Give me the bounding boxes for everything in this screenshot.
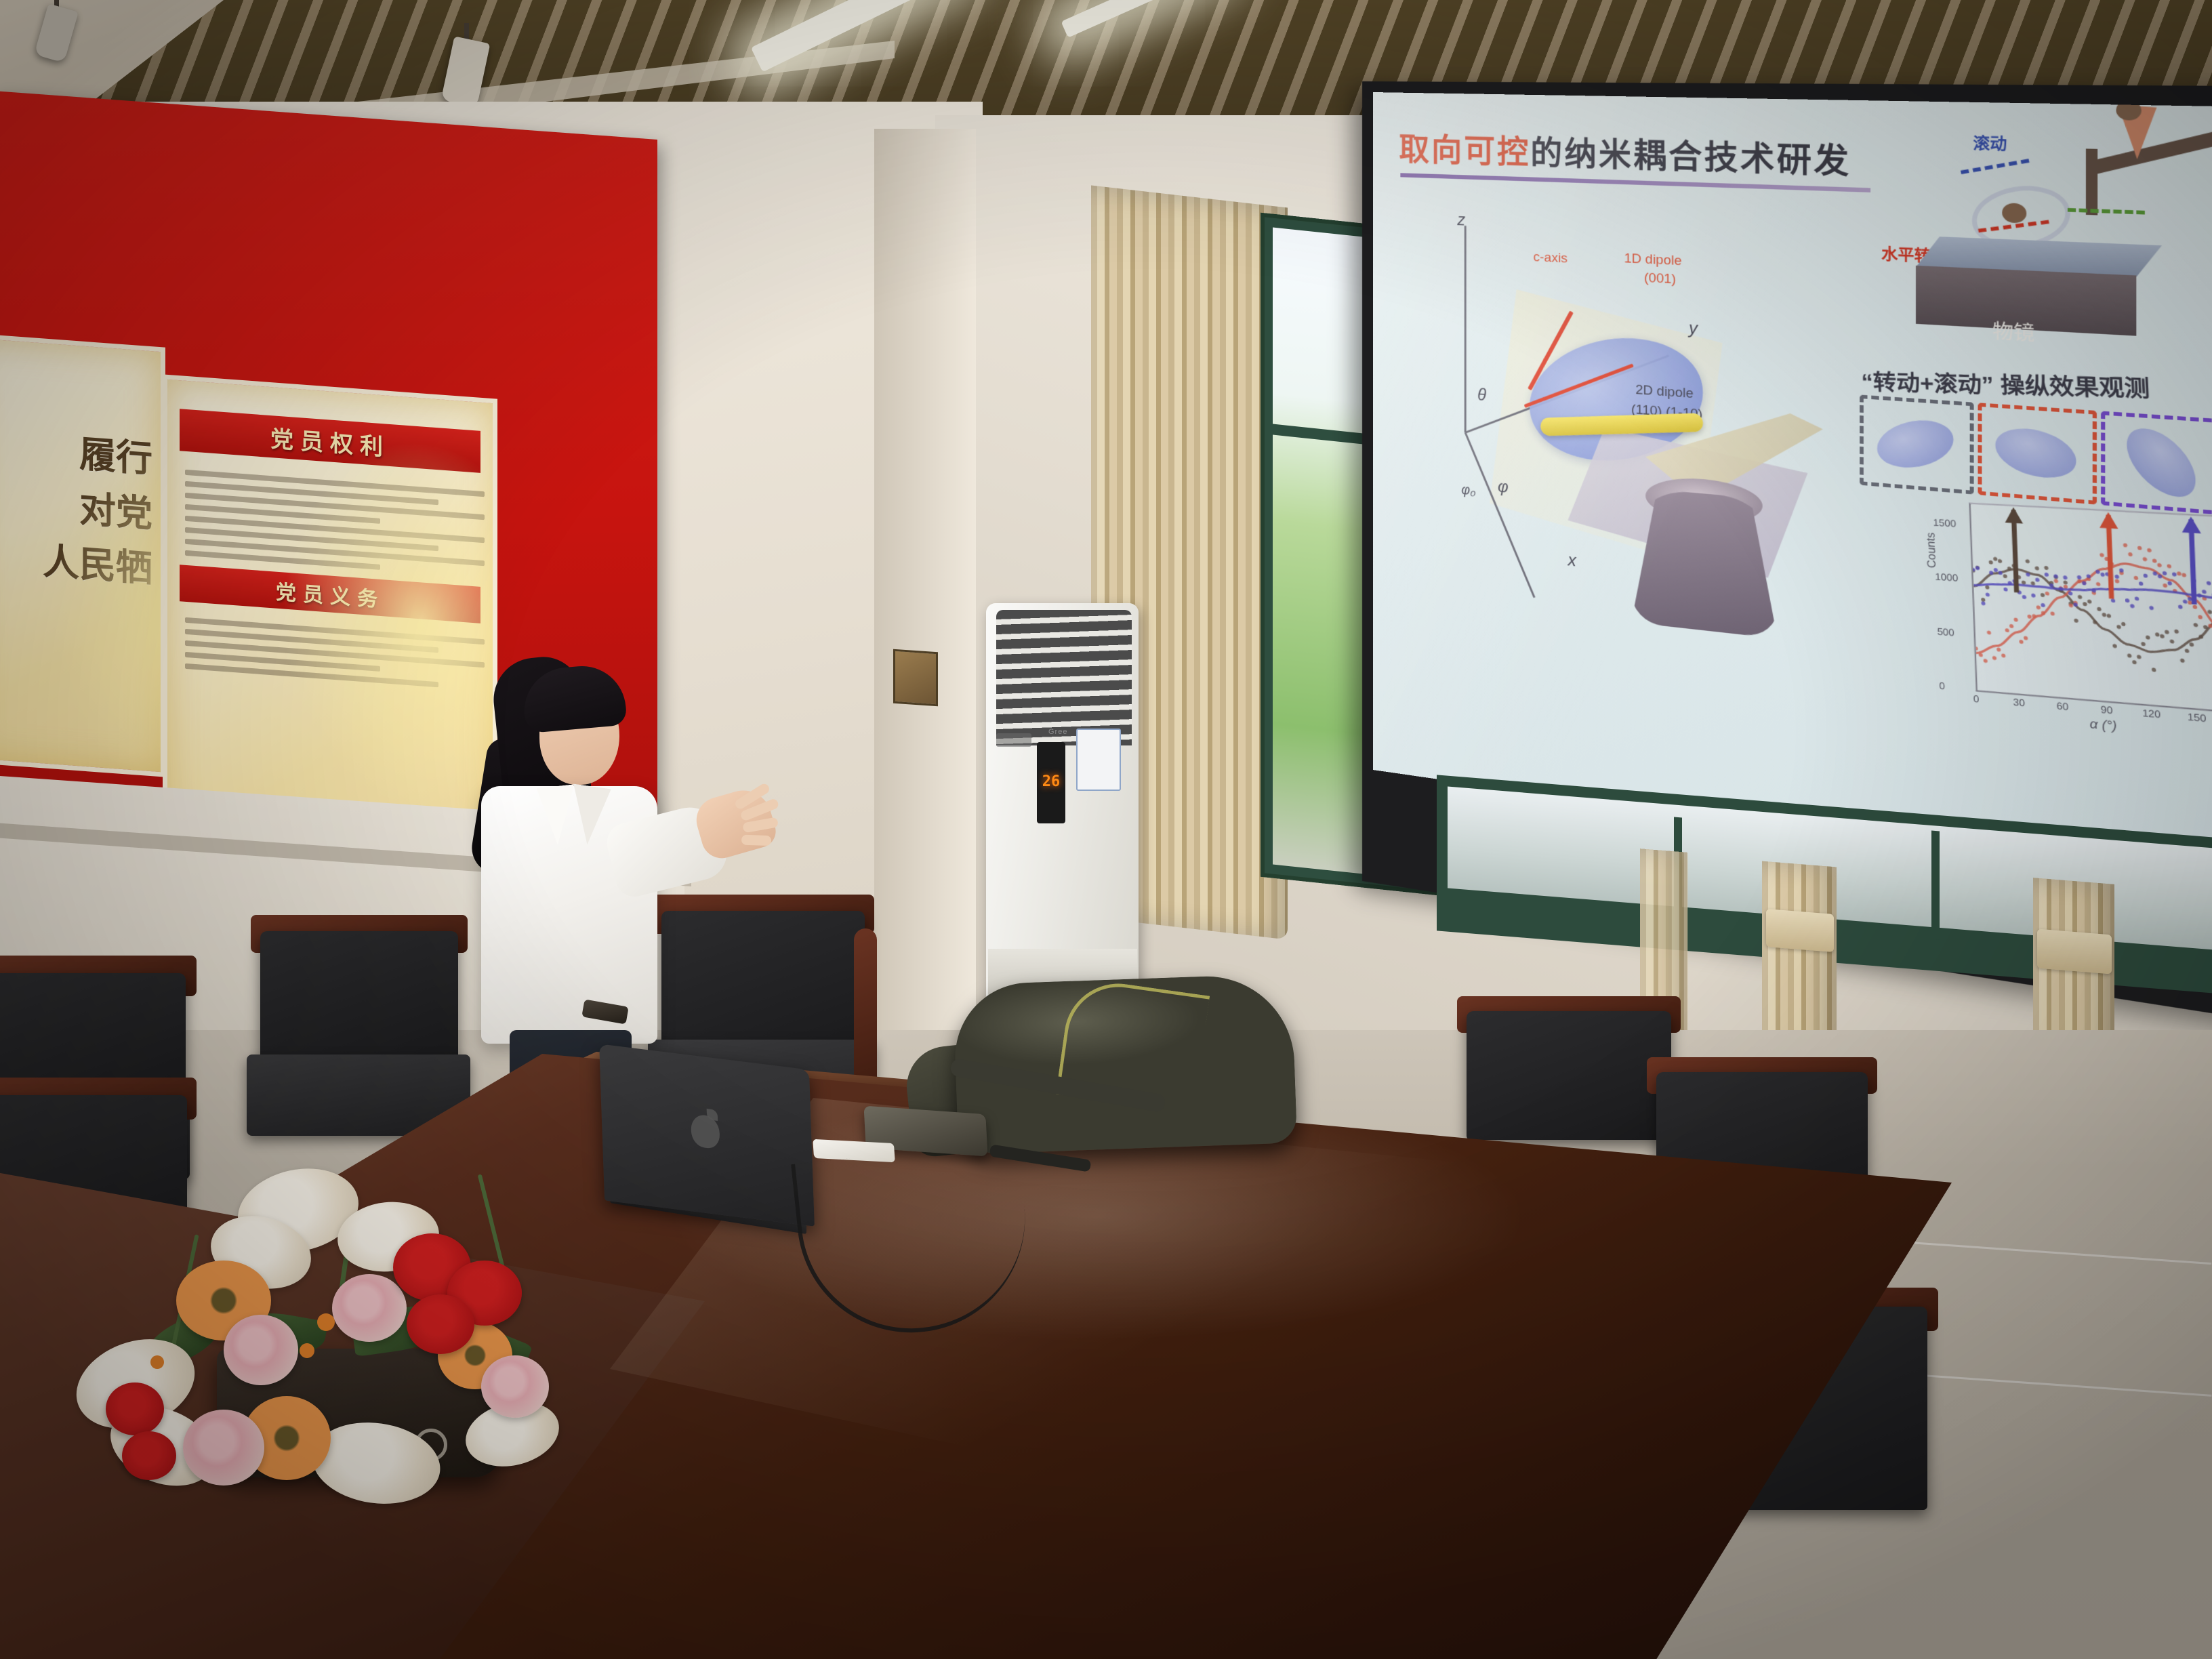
- chart-xtick: 0: [1973, 693, 1979, 704]
- cantilever-arm: [2087, 127, 2212, 176]
- thumbnail-box-purple: [2101, 411, 2212, 515]
- thumbnail-ellipse: [2114, 417, 2209, 508]
- wall-corner: [874, 129, 976, 1091]
- slide-title-rest: 的纳米耦合技术研发: [1530, 134, 1851, 180]
- dipole-1d-label: 1D dipole: [1624, 251, 1682, 270]
- ac-vent-grille: [996, 610, 1132, 745]
- chart-ytick: 0: [1939, 680, 1945, 691]
- chair-backrest: [1467, 1011, 1671, 1140]
- chart-annotation-arrow-dark: [2005, 507, 2026, 593]
- poster-left-panel: 履行 对党 人民牺: [0, 333, 165, 777]
- objective-block: 物镜: [1916, 236, 2162, 339]
- thumbnail-box-dark: [1860, 394, 1973, 494]
- thumbnail-ellipse: [1990, 420, 2081, 486]
- chart-xtick: 150: [2188, 711, 2207, 724]
- poster-left-fragment-1: 履行: [0, 419, 152, 488]
- red-flower: [122, 1431, 176, 1480]
- curtain-tieback-2[interactable]: [2037, 929, 2112, 975]
- berry: [300, 1343, 314, 1358]
- window-divider-2: [1931, 831, 1940, 940]
- curtain-tieback-1[interactable]: [1766, 909, 1834, 952]
- particle-dot: [2002, 203, 2026, 223]
- chart-ytick: 1500: [1933, 516, 1957, 529]
- flower-centerpiece[interactable]: [61, 1152, 861, 1532]
- axis-x-label: x: [1568, 551, 1576, 571]
- objective-block-label: 物镜: [1992, 316, 2034, 346]
- chart-xtick: 60: [2056, 700, 2068, 713]
- chart-series-svg: [1971, 504, 2212, 712]
- figure-nanorod-manipulation: [1540, 319, 1853, 558]
- ac-logo-icon: [996, 733, 1031, 747]
- chart-plot-area: [1969, 503, 2212, 714]
- rose-flower: [224, 1315, 298, 1385]
- berry: [317, 1313, 335, 1331]
- angle-theta-label: θ: [1477, 386, 1486, 406]
- conference-room-photo: 履行 对党 人民牺 党员权利 党员义务: [0, 0, 2212, 1659]
- thumbnail-box-red: [1978, 403, 2096, 504]
- red-flower: [106, 1382, 164, 1435]
- ac-display-panel: 26: [1037, 742, 1065, 823]
- finger: [741, 835, 771, 846]
- ac-brand-label: Gree: [1048, 728, 1067, 736]
- rose-flower: [183, 1410, 264, 1486]
- chart-ylabel: Counts: [1924, 532, 1939, 569]
- wall-outlet-plate[interactable]: [893, 649, 938, 707]
- chart-xlabel: α (°): [2089, 716, 2117, 734]
- berry: [150, 1355, 164, 1369]
- chair-armrest: [854, 928, 877, 1091]
- poster-text-line: [185, 663, 438, 687]
- slide-title-highlight: 取向可控: [1399, 131, 1530, 170]
- cantilever-leg: [2086, 148, 2097, 215]
- chart-ytick: 1000: [1935, 571, 1959, 584]
- chair-back-left-3[interactable]: [251, 915, 468, 1139]
- angle-phi0-label: φ₀: [1461, 483, 1475, 499]
- red-flower: [407, 1294, 474, 1354]
- chart-xtick: 120: [2142, 707, 2161, 720]
- nanorod: [1540, 413, 1704, 436]
- counts-vs-alpha-chart: Counts α (°) 030609012015018005001000150…: [1927, 496, 2212, 759]
- rose-flower: [332, 1274, 407, 1342]
- chair-backrest: [260, 931, 458, 1065]
- label-roll: 滚动: [1973, 131, 2007, 155]
- thumbnail-ellipse: [1870, 413, 1960, 474]
- chart-xtick: 90: [2100, 703, 2113, 716]
- rose-flower: [481, 1355, 549, 1418]
- axis-z-line: [1465, 226, 1467, 432]
- olive-backpack[interactable]: [953, 973, 1297, 1154]
- dipole-1d-index: (001): [1644, 270, 1676, 288]
- roll-arrow: [1961, 159, 2030, 174]
- translation-arrow: [2068, 208, 2145, 215]
- objective-block-body: 物镜: [1916, 266, 2136, 336]
- ac-temperature-value: 26: [1037, 773, 1065, 790]
- c-axis-label: c-axis: [1533, 250, 1568, 267]
- axis-z-label: z: [1457, 211, 1465, 230]
- slide-title: 取向可控的纳米耦合技术研发: [1399, 124, 1851, 183]
- chart-xtick: 30: [2013, 696, 2025, 708]
- chart-ytick: 500: [1937, 626, 1954, 638]
- ac-info-sticker: [1076, 729, 1121, 791]
- angle-phi-label: φ: [1498, 477, 1509, 497]
